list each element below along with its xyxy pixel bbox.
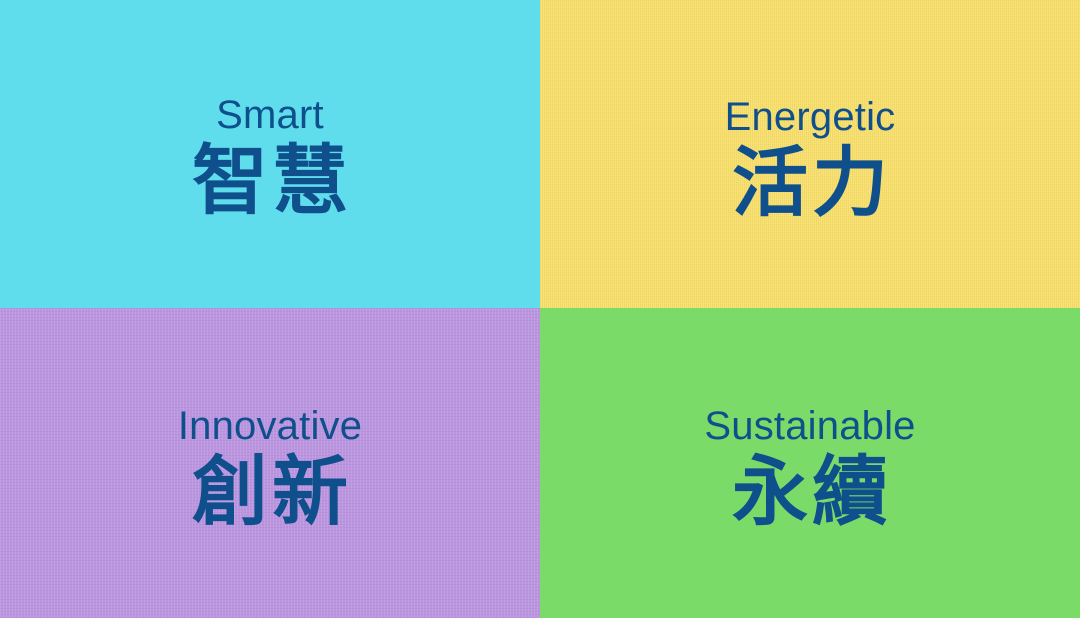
- term-chinese-energetic: 活力: [728, 142, 892, 224]
- term-chinese-sustainable: 永續: [728, 451, 892, 533]
- term-english-smart: Smart: [216, 94, 324, 136]
- term-chinese-innovative: 創新: [188, 451, 352, 533]
- value-label-sustainable: Sustainable 永續: [704, 405, 915, 533]
- value-label-energetic: Energetic 活力: [725, 96, 896, 224]
- quadrant-energetic: Energetic 活力: [540, 0, 1080, 308]
- brand-values-grid: Smart 智慧 Energetic 活力 Innovative 創新 Sust…: [0, 0, 1080, 618]
- value-label-smart: Smart 智慧: [188, 94, 352, 222]
- term-english-innovative: Innovative: [178, 405, 362, 447]
- quadrant-innovative: Innovative 創新: [0, 308, 540, 618]
- term-english-energetic: Energetic: [725, 96, 896, 138]
- value-label-innovative: Innovative 創新: [178, 405, 362, 533]
- term-english-sustainable: Sustainable: [704, 405, 915, 447]
- quadrant-sustainable: Sustainable 永續: [540, 308, 1080, 618]
- term-chinese-smart: 智慧: [188, 140, 352, 222]
- quadrant-smart: Smart 智慧: [0, 0, 540, 308]
